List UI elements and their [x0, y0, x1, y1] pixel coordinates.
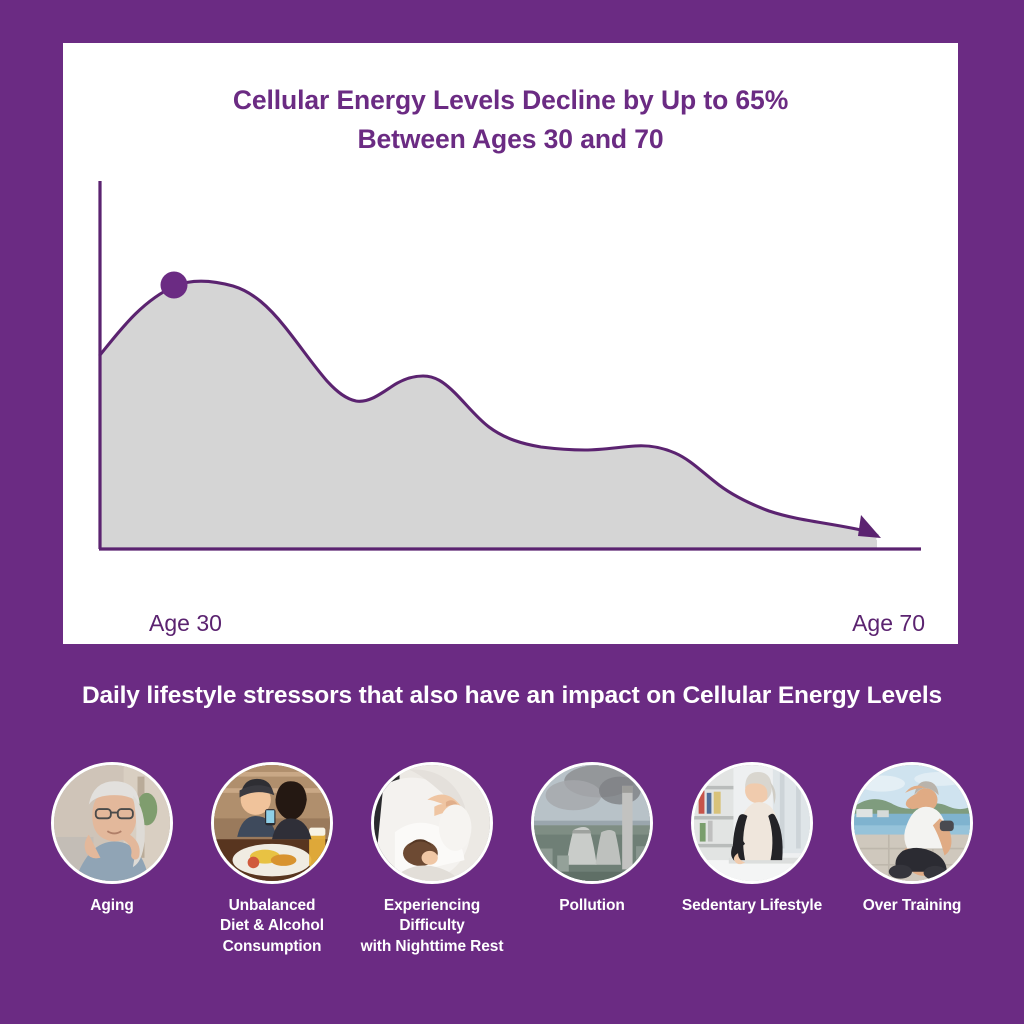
- friends-eating-drinking-photo: [211, 762, 333, 884]
- stressor-item-over-training[interactable]: Over Training: [839, 762, 985, 916]
- chart-plot-area: [63, 43, 958, 644]
- stressor-label-over-training: Over Training: [863, 896, 962, 916]
- label-line: Unbalanced: [229, 897, 316, 914]
- chart-peak-marker-dot: [161, 272, 188, 299]
- x-axis-label-start: Age 30: [149, 610, 222, 637]
- label-line: Consumption: [223, 938, 322, 955]
- label-line: Experiencing Difficulty: [384, 897, 480, 934]
- x-axis-label-end: Age 70: [852, 610, 925, 637]
- stressor-item-aging[interactable]: Aging: [39, 762, 185, 916]
- stressor-label-aging: Aging: [90, 896, 133, 916]
- stressor-item-nighttime-rest[interactable]: Experiencing Difficulty with Nighttime R…: [359, 762, 505, 957]
- label-line: Diet & Alcohol: [220, 917, 324, 934]
- label-line: with Nighttime Rest: [361, 938, 504, 955]
- stressors-row: Aging: [0, 762, 1024, 957]
- stressor-item-pollution[interactable]: Pollution: [519, 762, 665, 916]
- stressor-label-sedentary-lifestyle: Sedentary Lifestyle: [682, 896, 822, 916]
- stressor-label-pollution: Pollution: [559, 896, 624, 916]
- stressor-item-sedentary-lifestyle[interactable]: Sedentary Lifestyle: [679, 762, 825, 916]
- man-exhausted-workout-photo: [851, 762, 973, 884]
- older-woman-thinking-photo: [51, 762, 173, 884]
- stressor-label-nighttime-rest: Experiencing Difficulty with Nighttime R…: [359, 896, 505, 957]
- woman-back-pain-office-photo: [691, 762, 813, 884]
- power-plant-smokestacks-photo: [531, 762, 653, 884]
- stressors-section: Daily lifestyle stressors that also have…: [0, 660, 1024, 710]
- woman-sleepless-in-bed-photo: [371, 762, 493, 884]
- stressors-heading: Daily lifestyle stressors that also have…: [0, 660, 1024, 710]
- chart-decline-arrow-icon: [858, 515, 881, 538]
- stressor-label-unbalanced-diet: Unbalanced Diet & Alcohol Consumption: [220, 896, 324, 957]
- chart-card: Cellular Energy Levels Decline by Up to …: [63, 43, 958, 644]
- stressor-item-unbalanced-diet[interactable]: Unbalanced Diet & Alcohol Consumption: [199, 762, 345, 957]
